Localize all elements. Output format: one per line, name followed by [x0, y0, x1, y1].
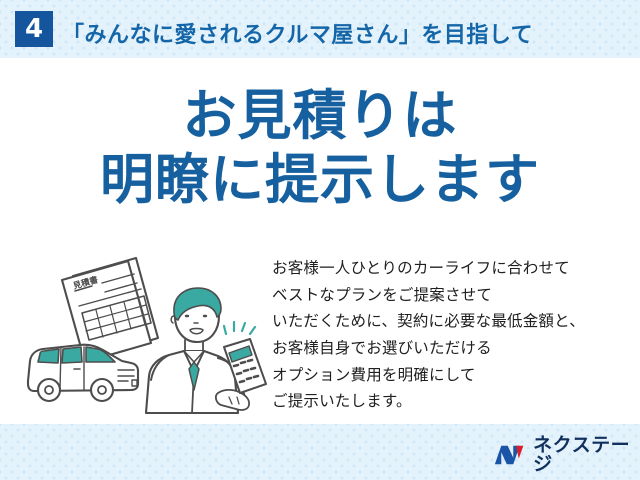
- body-line-4: お客様自身でお選びいただける: [272, 335, 632, 362]
- sparkle-icon: [224, 322, 255, 334]
- nextage-n-mark: [493, 443, 526, 467]
- body-line-1: お客様一人ひとりのカーライフに合わせて: [272, 255, 632, 282]
- promo-banner: 4 「みんなに愛されるクルマ屋さん」を目指して お見積りは 明瞭に提示します お…: [0, 0, 640, 480]
- body-line-3: いただくために、契約に必要な最低金額と、: [272, 308, 632, 335]
- headline-line-1: お見積りは: [0, 84, 640, 148]
- body-line-5: オプション費用を明確にして: [272, 362, 632, 389]
- illustration: 見積書: [18, 250, 273, 425]
- brand-logo-text: ネクステージ: [533, 436, 640, 474]
- section-number-badge: 4: [15, 11, 53, 47]
- body-line-6: ご提示いたします。: [272, 388, 632, 415]
- headline-line-2: 明瞭に提示します: [0, 148, 640, 212]
- car-illustration: [28, 345, 138, 401]
- body-copy: お客様一人ひとりのカーライフに合わせて ベストなプランをご提案させて いただくた…: [272, 255, 632, 415]
- header-title: 「みんなに愛されるクルマ屋さん」を目指して: [62, 17, 533, 49]
- brand-logo: ネクステージ: [493, 441, 640, 469]
- body-line-2: ベストなプランをご提案させて: [272, 282, 632, 309]
- headline: お見積りは 明瞭に提示します: [0, 84, 640, 211]
